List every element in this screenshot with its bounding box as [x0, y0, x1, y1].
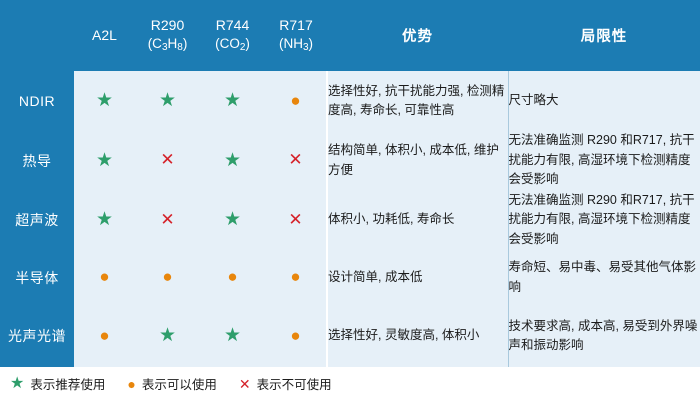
- dot-icon: ●: [99, 327, 109, 344]
- cell-photoacoustic-a2l: ●: [74, 305, 135, 367]
- header-r290-formula-part3: ): [183, 36, 188, 51]
- star-icon: ★: [224, 210, 241, 229]
- header-a2l-label: A2L: [92, 27, 117, 43]
- header-r290-formula: (C3H8): [135, 35, 200, 55]
- cell-ndir-r744: ★: [200, 71, 265, 131]
- cell-ndir-r717: ●: [265, 71, 327, 131]
- cell-ndir-limitations: 尺寸略大: [508, 71, 700, 131]
- star-icon: ★: [96, 91, 113, 110]
- header-r744-formula-part2: ): [245, 36, 250, 51]
- star-icon: ★: [224, 91, 241, 110]
- cell-ndir-advantages: 选择性好, 抗干扰能力强, 检测精度高, 寿命长, 可靠性高: [327, 71, 508, 131]
- cell-ultrasonic-limitations: 无法准确监测 R290 和R717, 抗干扰能力有限, 高湿环境下检测精度会受影…: [508, 190, 700, 250]
- cell-thermal-r744: ★: [200, 131, 265, 190]
- cell-semiconductor-r744: ●: [200, 250, 265, 305]
- row-label-photoacoustic: 光声光谱: [0, 305, 74, 367]
- dot-icon: ●: [127, 377, 135, 391]
- header-r290-formula-part2: H: [168, 36, 178, 51]
- cell-ultrasonic-a2l: ★: [74, 190, 135, 250]
- cell-photoacoustic-advantages: 选择性好, 灵敏度高, 体积小: [327, 305, 508, 367]
- legend-item-not-usable: ✕ 表示不可使用: [239, 374, 332, 393]
- cell-thermal-advantages: 结构简单, 体积小, 成本低, 维护方便: [327, 131, 508, 190]
- table-row: 半导体 ● ● ● ● 设计简单, 成本低 寿命短、易中毒、易受其他气体影响: [0, 250, 700, 305]
- dot-icon: ●: [162, 268, 172, 285]
- header-col-r717: R717 (NH3): [265, 0, 327, 71]
- header-corner-cell: [0, 0, 74, 71]
- table-row: 超声波 ★ ✕ ★ ✕ 体积小, 功耗低, 寿命长 无法准确监测 R290 和R…: [0, 190, 700, 250]
- cell-ndir-a2l: ★: [74, 71, 135, 131]
- dot-icon: ●: [99, 268, 109, 285]
- cell-photoacoustic-r744: ★: [200, 305, 265, 367]
- header-r744-formula: (CO2): [200, 35, 265, 55]
- table-row: 光声光谱 ● ★ ★ ● 选择性好, 灵敏度高, 体积小 技术要求高, 成本高,…: [0, 305, 700, 367]
- header-col-r744: R744 (CO2): [200, 0, 265, 71]
- table-body: NDIR ★ ★ ★ ● 选择性好, 抗干扰能力强, 检测精度高, 寿命长, 可…: [0, 71, 700, 367]
- cell-thermal-a2l: ★: [74, 131, 135, 190]
- cell-ndir-r290: ★: [135, 71, 200, 131]
- star-icon: ★: [96, 151, 113, 170]
- header-r744-label: R744: [216, 17, 249, 33]
- cell-ultrasonic-advantages: 体积小, 功耗低, 寿命长: [327, 190, 508, 250]
- dot-icon: ●: [227, 268, 237, 285]
- cell-ultrasonic-r744: ★: [200, 190, 265, 250]
- header-r290-formula-part1: (C: [148, 36, 162, 51]
- header-col-limitations: 局限性: [508, 0, 700, 71]
- legend-item-recommended: ★ 表示推荐使用: [10, 374, 105, 393]
- table-header: A2L R290 (C3H8) R744 (CO2) R717 (NH3) 优势…: [0, 0, 700, 71]
- star-icon: ★: [96, 210, 113, 229]
- sensor-comparison-table: A2L R290 (C3H8) R744 (CO2) R717 (NH3) 优势…: [0, 0, 700, 367]
- header-col-r290: R290 (C3H8): [135, 0, 200, 71]
- comparison-table-page: A2L R290 (C3H8) R744 (CO2) R717 (NH3) 优势…: [0, 0, 700, 400]
- legend: ★ 表示推荐使用 ● 表示可以使用 ✕ 表示不可使用: [0, 367, 700, 400]
- cell-semiconductor-a2l: ●: [74, 250, 135, 305]
- row-label-thermal-conductivity: 热导: [0, 131, 74, 190]
- cross-icon: ✕: [239, 377, 251, 391]
- header-r290-label: R290: [151, 17, 184, 33]
- row-label-semiconductor: 半导体: [0, 250, 74, 305]
- cross-icon: ✕: [288, 151, 302, 168]
- star-icon: ★: [224, 326, 241, 345]
- star-icon: ★: [159, 91, 176, 110]
- legend-item-usable: ● 表示可以使用: [127, 374, 216, 393]
- row-label-ultrasonic: 超声波: [0, 190, 74, 250]
- header-r717-formula-part2: ): [309, 36, 314, 51]
- cell-photoacoustic-r290: ★: [135, 305, 200, 367]
- header-r717-formula-part1: (NH: [279, 36, 303, 51]
- cell-thermal-limitations: 无法准确监测 R290 和R717, 抗干扰能力有限, 高湿环境下检测精度会受影…: [508, 131, 700, 190]
- header-row: A2L R290 (C3H8) R744 (CO2) R717 (NH3) 优势…: [0, 0, 700, 71]
- header-r744-formula-part1: (CO: [215, 36, 240, 51]
- star-icon: ★: [10, 376, 24, 392]
- cell-semiconductor-advantages: 设计简单, 成本低: [327, 250, 508, 305]
- cell-photoacoustic-r717: ●: [265, 305, 327, 367]
- dot-icon: ●: [290, 92, 300, 109]
- header-r717-label: R717: [279, 17, 312, 33]
- table-row: 热导 ★ ✕ ★ ✕ 结构简单, 体积小, 成本低, 维护方便 无法准确监测 R…: [0, 131, 700, 190]
- cross-icon: ✕: [288, 211, 302, 228]
- dot-icon: ●: [290, 268, 300, 285]
- cell-ultrasonic-r290: ✕: [135, 190, 200, 250]
- header-col-advantages: 优势: [327, 0, 508, 71]
- header-r717-formula: (NH3): [265, 35, 327, 55]
- cell-semiconductor-r290: ●: [135, 250, 200, 305]
- cross-icon: ✕: [160, 211, 174, 228]
- cell-photoacoustic-limitations: 技术要求高, 成本高, 易受到外界噪声和振动影响: [508, 305, 700, 367]
- legend-label-usable: 表示可以使用: [142, 374, 217, 393]
- cell-thermal-r290: ✕: [135, 131, 200, 190]
- dot-icon: ●: [290, 327, 300, 344]
- cell-ultrasonic-r717: ✕: [265, 190, 327, 250]
- header-col-a2l: A2L: [74, 0, 135, 71]
- cross-icon: ✕: [160, 151, 174, 168]
- legend-label-recommended: 表示推荐使用: [30, 374, 105, 393]
- cell-semiconductor-r717: ●: [265, 250, 327, 305]
- star-icon: ★: [224, 151, 241, 170]
- row-label-ndir: NDIR: [0, 71, 74, 131]
- star-icon: ★: [159, 326, 176, 345]
- cell-semiconductor-limitations: 寿命短、易中毒、易受其他气体影响: [508, 250, 700, 305]
- cell-thermal-r717: ✕: [265, 131, 327, 190]
- legend-label-not-usable: 表示不可使用: [257, 374, 332, 393]
- table-row: NDIR ★ ★ ★ ● 选择性好, 抗干扰能力强, 检测精度高, 寿命长, 可…: [0, 71, 700, 131]
